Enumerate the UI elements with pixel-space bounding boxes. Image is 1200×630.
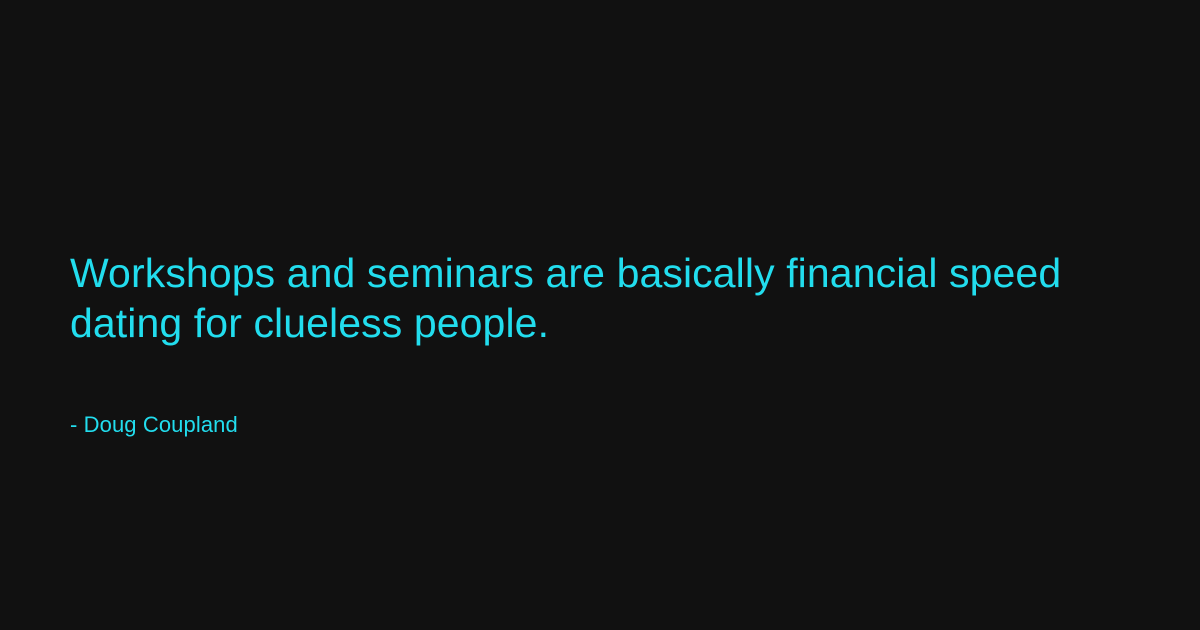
quote-attribution: - Doug Coupland	[70, 410, 238, 440]
quote-block: Workshops and seminars are basically fin…	[70, 248, 1145, 348]
quote-card: Workshops and seminars are basically fin…	[0, 0, 1200, 630]
quote-text: Workshops and seminars are basically fin…	[70, 248, 1145, 348]
